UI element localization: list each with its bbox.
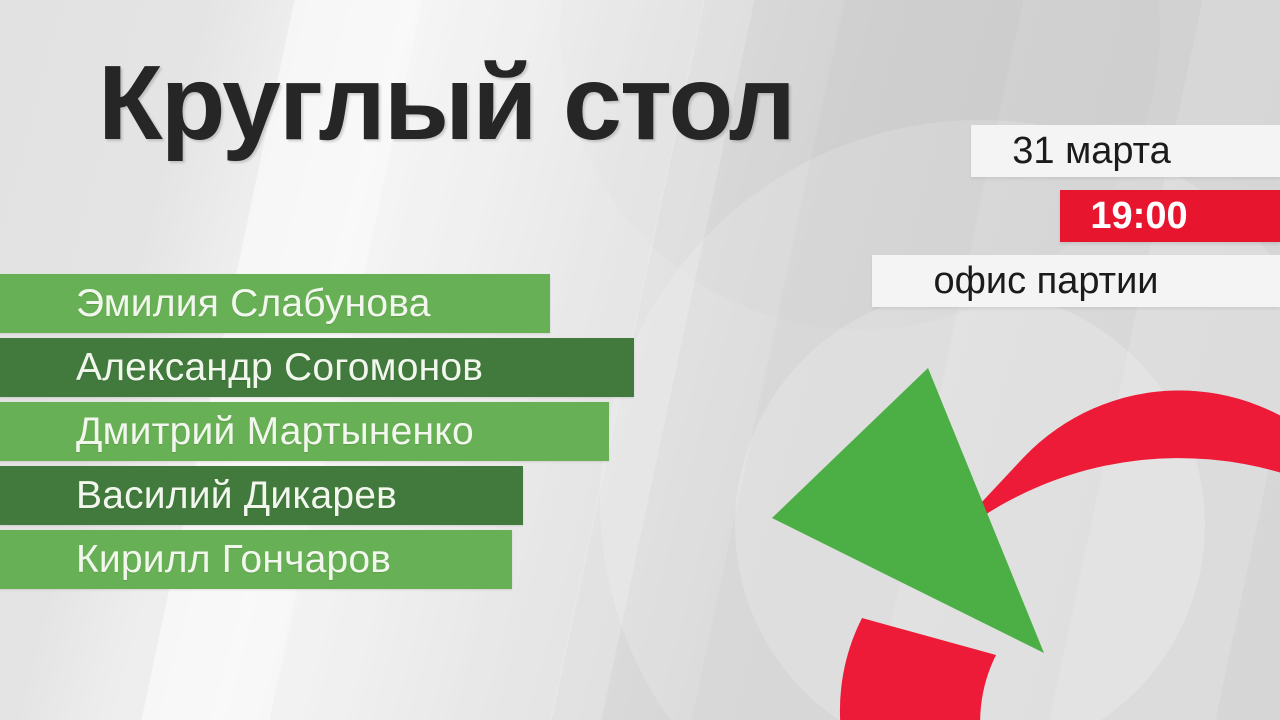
speaker-name: Василий Дикарев bbox=[76, 474, 397, 518]
speaker-name: Эмилия Слабунова bbox=[76, 282, 431, 326]
poster-canvas: Круглый стол 31 марта 19:00 офис партии … bbox=[0, 0, 1280, 720]
speaker-bar: Кирилл Гончаров bbox=[0, 530, 512, 589]
page-title: Круглый стол bbox=[98, 48, 794, 159]
event-time-badge: 19:00 bbox=[1060, 190, 1280, 242]
speaker-name: Александр Согомонов bbox=[76, 346, 483, 390]
speaker-bar: Дмитрий Мартыненко bbox=[0, 402, 609, 461]
event-date-text: 31 марта bbox=[1012, 130, 1171, 173]
speaker-bar: Александр Согомонов bbox=[0, 338, 634, 397]
speaker-bar: Василий Дикарев bbox=[0, 466, 523, 525]
speaker-bar: Эмилия Слабунова bbox=[0, 274, 550, 333]
event-place-text: офис партии bbox=[933, 260, 1158, 303]
event-date-badge: 31 марта bbox=[971, 125, 1280, 177]
speaker-name: Кирилл Гончаров bbox=[76, 538, 391, 582]
event-time-text: 19:00 bbox=[1090, 195, 1187, 238]
speaker-name: Дмитрий Мартыненко bbox=[76, 410, 474, 454]
speaker-list: Эмилия СлабуноваАлександр СогомоновДмитр… bbox=[0, 274, 634, 594]
event-place-badge: офис партии bbox=[872, 255, 1280, 307]
